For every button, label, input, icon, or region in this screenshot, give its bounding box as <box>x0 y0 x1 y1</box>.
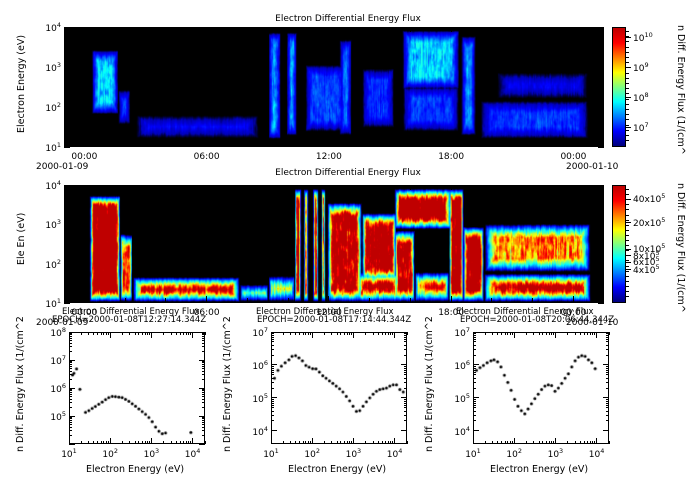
x-tick-minor <box>539 332 540 335</box>
y-tick-major <box>598 303 604 304</box>
x-tick-minor <box>542 441 543 444</box>
x-tick-minor <box>373 441 374 444</box>
y-tick-minor <box>473 337 476 338</box>
x-tick-minor <box>492 441 493 444</box>
y-tick-label: 104 <box>37 21 61 34</box>
panel2-ylabel: Ele En (eV) <box>16 213 27 265</box>
y-tick-minor <box>601 99 604 100</box>
x-tick-minor <box>188 332 189 335</box>
x-tick-minor <box>247 142 248 147</box>
x-tick-minor <box>410 185 411 190</box>
y-tick-minor <box>64 272 67 273</box>
x-tick-minor <box>378 441 379 444</box>
y-tick-minor <box>404 415 407 416</box>
x-tick-minor <box>533 441 534 444</box>
x-tick-minor <box>491 185 492 190</box>
cbar-tick-minor <box>626 99 629 100</box>
y-tick-minor <box>601 75 604 76</box>
cbar-tick-minor <box>626 204 629 205</box>
x-tick-minor <box>567 441 568 444</box>
y-tick-minor <box>601 278 604 279</box>
y-tick-minor <box>202 371 205 372</box>
x-tick-minor <box>378 332 379 335</box>
cbar-tick-minor <box>626 209 629 210</box>
x-tick-minor <box>247 27 248 32</box>
x-tick-label: 06:00 <box>191 152 223 162</box>
y-tick-minor <box>473 366 476 367</box>
x-tick-minor <box>497 332 498 335</box>
y-tick-minor <box>202 418 205 419</box>
y-tick-label: 103 <box>37 218 61 231</box>
spectrum-3-xlabel: Electron Energy (eV) <box>490 464 588 475</box>
x-tick-minor <box>142 332 143 335</box>
y-tick-minor <box>606 339 609 340</box>
y-tick-minor <box>601 45 604 46</box>
cbar-tick-minor <box>626 52 629 53</box>
y-tick-major <box>64 263 70 264</box>
x-tick-minor <box>485 332 486 335</box>
spectrum-3-epoch: EPOCH=2000-01-08T20:06:44.344Z <box>460 315 614 325</box>
y-tick-minor <box>271 370 274 371</box>
y-tick-minor <box>606 378 609 379</box>
x-tick-minor <box>373 332 374 335</box>
y-tick-minor <box>64 281 67 282</box>
y-tick-minor <box>601 121 604 122</box>
panel1-colorbar <box>612 27 626 147</box>
y-tick-minor <box>202 399 205 400</box>
y-tick-minor <box>601 250 604 251</box>
y-tick-minor <box>473 335 476 336</box>
spectrum-2-xlabel: Electron Energy (eV) <box>288 464 386 475</box>
x-tick-minor <box>369 142 370 147</box>
y-tick-minor <box>69 333 72 334</box>
y-tick-minor <box>69 336 72 337</box>
x-tick-minor <box>532 298 533 303</box>
panel1-ylabel: Electron Energy (eV) <box>16 35 27 133</box>
y-tick-minor <box>271 420 274 421</box>
y-tick-minor <box>69 343 72 344</box>
x-tick-minor <box>190 332 191 335</box>
cbar-tick-label: 40x105 <box>633 192 665 205</box>
x-tick-minor <box>382 332 383 335</box>
y-tick-major <box>64 224 70 225</box>
y-tick-minor <box>601 118 604 119</box>
cbar-tick-minor <box>626 220 629 221</box>
x-tick-minor <box>147 441 148 444</box>
y-tick-minor <box>64 43 67 44</box>
y-tick-minor <box>271 337 274 338</box>
x-tick-minor <box>106 332 107 335</box>
x-tick-minor <box>125 298 126 303</box>
y-tick-label: 105 <box>444 392 470 405</box>
y-tick-minor <box>601 114 604 115</box>
y-tick-minor <box>473 403 476 404</box>
y-tick-minor <box>64 125 67 126</box>
y-tick-minor <box>601 270 604 271</box>
y-tick-minor <box>404 382 407 383</box>
y-tick-minor <box>473 415 476 416</box>
y-tick-minor <box>202 427 205 428</box>
y-tick-minor <box>404 372 407 373</box>
x-tick-minor <box>93 441 94 444</box>
y-tick-minor <box>64 48 67 49</box>
x-tick-major <box>514 332 515 338</box>
x-tick-minor <box>365 441 366 444</box>
x-tick-minor <box>247 185 248 190</box>
y-tick-minor <box>404 378 407 379</box>
y-tick-minor <box>202 422 205 423</box>
y-tick-label: 106 <box>40 382 66 395</box>
y-tick-minor <box>404 337 407 338</box>
x-tick-minor <box>410 298 411 303</box>
x-tick-major <box>110 332 111 338</box>
y-tick-label: 107 <box>40 354 66 367</box>
x-tick-minor <box>145 332 146 335</box>
y-tick-minor <box>473 349 476 350</box>
y-tick-minor <box>606 368 609 369</box>
y-tick-minor <box>202 333 205 334</box>
y-tick-minor <box>64 285 67 286</box>
x-tick-minor <box>584 332 585 335</box>
spectrum-1-plot <box>69 332 205 444</box>
x-tick-minor <box>101 441 102 444</box>
x-tick-minor <box>390 441 391 444</box>
x-tick-minor <box>176 332 177 335</box>
y-tick-minor <box>601 93 604 94</box>
y-tick-minor <box>64 85 67 86</box>
y-tick-minor <box>473 411 476 412</box>
x-tick-major <box>312 332 313 338</box>
x-tick-minor <box>145 441 146 444</box>
x-tick-minor <box>407 441 408 444</box>
y-tick-minor <box>601 85 604 86</box>
y-tick-minor <box>601 129 604 130</box>
cbar-tick-minor <box>626 245 629 246</box>
y-tick-minor <box>606 366 609 367</box>
x-tick-minor <box>142 441 143 444</box>
x-tick-label: 102 <box>300 447 324 460</box>
x-tick-minor <box>138 441 139 444</box>
x-tick-minor <box>594 332 595 335</box>
x-tick-minor <box>290 441 291 444</box>
y-tick-minor <box>64 220 67 221</box>
panel2-colorbar-label: n Diff. Energy Flux (1/(cm^ <box>675 183 686 313</box>
y-tick-minor <box>202 338 205 339</box>
y-tick-minor <box>69 427 72 428</box>
y-tick-minor <box>271 378 274 379</box>
y-tick-minor <box>271 415 274 416</box>
cbar-tick-minor <box>626 250 629 251</box>
cbar-tick-minor <box>626 230 629 231</box>
y-tick-minor <box>601 79 604 80</box>
spectrum-3-ylabel: n Diff. Energy Flux (1/(cm^2 <box>424 316 435 452</box>
y-tick-minor <box>601 285 604 286</box>
y-tick-minor <box>601 268 604 269</box>
y-tick-minor <box>202 336 205 337</box>
y-tick-minor <box>202 420 205 421</box>
y-tick-minor <box>404 355 407 356</box>
y-tick-minor <box>601 242 604 243</box>
y-tick-minor <box>69 399 72 400</box>
x-tick-minor <box>592 332 593 335</box>
y-tick-minor <box>404 333 407 334</box>
panel1-xdate-left: 2000-01-09 <box>36 162 88 172</box>
x-tick-minor <box>308 441 309 444</box>
y-tick-minor <box>404 370 407 371</box>
spectrum-3-plot <box>473 332 609 444</box>
y-tick-minor <box>64 209 67 210</box>
x-tick-minor <box>84 185 85 190</box>
cbar-tick-label: 1010 <box>633 31 653 44</box>
y-tick-minor <box>64 234 67 235</box>
y-tick-minor <box>202 379 205 380</box>
x-tick-minor <box>122 332 123 335</box>
y-tick-major <box>598 67 604 68</box>
x-tick-label: 104 <box>181 447 205 460</box>
y-tick-label: 104 <box>242 425 268 438</box>
y-tick-minor <box>64 292 67 293</box>
x-tick-major <box>151 438 152 444</box>
x-tick-minor <box>340 332 341 335</box>
y-tick-minor <box>473 345 476 346</box>
x-tick-minor <box>584 441 585 444</box>
y-tick-minor <box>601 43 604 44</box>
cbar-tick-minor <box>626 104 629 105</box>
y-tick-minor <box>606 333 609 334</box>
x-tick-minor <box>171 441 172 444</box>
y-tick-minor <box>606 372 609 373</box>
y-tick-minor <box>271 349 274 350</box>
x-tick-minor <box>410 27 411 32</box>
y-tick-minor <box>601 125 604 126</box>
y-tick-minor <box>64 233 67 234</box>
y-tick-major <box>598 27 604 28</box>
y-tick-minor <box>271 407 274 408</box>
y-tick-minor <box>271 372 274 373</box>
x-tick-minor <box>135 441 136 444</box>
x-tick-minor <box>351 332 352 335</box>
x-tick-minor <box>451 185 452 190</box>
y-tick-minor <box>601 39 604 40</box>
y-tick-minor <box>202 368 205 369</box>
y-tick-minor <box>64 82 67 83</box>
cbar-tick <box>626 127 631 128</box>
x-tick-minor <box>283 441 284 444</box>
y-tick-minor <box>601 220 604 221</box>
x-tick-minor <box>567 332 568 335</box>
x-tick-minor <box>138 332 139 335</box>
y-tick-label: 104 <box>37 179 61 192</box>
y-tick-major <box>64 67 70 68</box>
y-tick-minor <box>69 435 72 436</box>
y-tick-minor <box>202 407 205 408</box>
x-tick-major <box>573 296 574 303</box>
x-tick-major <box>451 296 452 303</box>
x-tick-minor <box>125 27 126 32</box>
y-tick-minor <box>69 422 72 423</box>
x-tick-minor <box>84 27 85 32</box>
y-tick-minor <box>69 394 72 395</box>
x-tick-minor <box>340 441 341 444</box>
x-tick-major <box>192 438 193 444</box>
y-tick-minor <box>473 333 476 334</box>
x-tick-major <box>192 332 193 338</box>
x-tick-minor <box>587 441 588 444</box>
cbar-tick-minor <box>626 281 629 282</box>
y-tick-minor <box>64 203 67 204</box>
cbar-tick-minor <box>626 41 629 42</box>
x-tick-minor <box>347 332 348 335</box>
x-tick-label: 101 <box>461 447 485 460</box>
x-tick-minor <box>186 332 187 335</box>
x-tick-minor <box>392 332 393 335</box>
x-tick-minor <box>510 332 511 335</box>
y-tick-minor <box>271 368 274 369</box>
x-tick-minor <box>526 441 527 444</box>
y-tick-minor <box>473 370 476 371</box>
x-tick-minor <box>288 142 289 147</box>
y-tick-minor <box>606 399 609 400</box>
x-tick-minor <box>324 332 325 335</box>
y-tick-minor <box>64 268 67 269</box>
x-tick-minor <box>171 332 172 335</box>
y-tick-major <box>598 147 604 148</box>
y-tick-minor <box>202 361 205 362</box>
y-tick-minor <box>404 411 407 412</box>
x-tick-label: 102 <box>98 447 122 460</box>
x-tick-minor <box>539 441 540 444</box>
x-tick-minor <box>163 441 164 444</box>
y-tick-minor <box>202 362 205 363</box>
cbar-tick-minor <box>626 67 629 68</box>
y-tick-minor <box>473 355 476 356</box>
x-tick-minor <box>310 441 311 444</box>
x-tick-minor <box>491 298 492 303</box>
x-tick-minor <box>492 332 493 335</box>
x-tick-minor <box>553 441 554 444</box>
x-tick-label: 103 <box>341 447 365 460</box>
y-tick-minor <box>601 206 604 207</box>
x-tick-major <box>312 438 313 444</box>
x-tick-minor <box>331 441 332 444</box>
x-tick-minor <box>206 185 207 190</box>
y-tick-major <box>69 444 75 445</box>
y-tick-minor <box>271 333 274 334</box>
x-tick-minor <box>188 441 189 444</box>
y-tick-minor <box>601 256 604 257</box>
y-tick-minor <box>64 242 67 243</box>
x-tick-major <box>596 438 597 444</box>
y-tick-minor <box>202 351 205 352</box>
y-tick-minor <box>606 407 609 408</box>
y-tick-minor <box>601 237 604 238</box>
x-tick-minor <box>328 185 329 190</box>
x-tick-minor <box>510 441 511 444</box>
x-tick-minor <box>81 441 82 444</box>
x-tick-minor <box>163 332 164 335</box>
cbar-tick-minor <box>626 255 629 256</box>
x-tick-minor <box>165 298 166 303</box>
y-tick-minor <box>404 420 407 421</box>
x-tick-minor <box>299 441 300 444</box>
x-tick-minor <box>303 441 304 444</box>
y-tick-label: 107 <box>444 326 470 339</box>
x-tick-minor <box>106 441 107 444</box>
y-tick-minor <box>202 389 205 390</box>
y-tick-minor <box>601 201 604 202</box>
x-tick-minor <box>180 332 181 335</box>
y-tick-minor <box>64 199 67 200</box>
y-tick-major <box>598 263 604 264</box>
x-tick-label: 103 <box>543 447 567 460</box>
x-tick-minor <box>349 332 350 335</box>
y-tick-minor <box>601 197 604 198</box>
y-tick-minor <box>202 390 205 391</box>
x-tick-minor <box>549 332 550 335</box>
y-tick-minor <box>473 420 476 421</box>
y-tick-minor <box>64 45 67 46</box>
y-tick-minor <box>64 93 67 94</box>
panel1-colorbar-label: n Diff. Energy Flux (1/(cm^ <box>675 25 686 155</box>
y-tick-minor <box>202 364 205 365</box>
y-tick-minor <box>64 275 67 276</box>
y-tick-minor <box>64 250 67 251</box>
y-tick-minor <box>202 417 205 418</box>
y-tick-minor <box>202 374 205 375</box>
y-tick-minor <box>69 374 72 375</box>
x-tick-minor <box>410 142 411 147</box>
y-tick-minor <box>404 407 407 408</box>
cbar-tick-minor <box>626 130 629 131</box>
y-tick-minor <box>601 292 604 293</box>
x-tick-minor <box>81 332 82 335</box>
spectrum-2-epoch: EPOCH=2000-01-08T17:14:44.344Z <box>257 315 411 325</box>
y-tick-minor <box>69 351 72 352</box>
y-tick-major <box>603 430 609 431</box>
y-tick-minor <box>69 407 72 408</box>
x-tick-minor <box>108 441 109 444</box>
y-tick-major <box>199 444 205 445</box>
y-tick-major <box>598 107 604 108</box>
cbar-tick-minor <box>626 57 629 58</box>
x-tick-minor <box>485 441 486 444</box>
y-tick-minor <box>606 382 609 383</box>
x-tick-minor <box>295 332 296 335</box>
x-tick-label: 101 <box>259 447 283 460</box>
x-tick-minor <box>491 27 492 32</box>
x-tick-minor <box>532 142 533 147</box>
y-tick-label: 105 <box>242 392 268 405</box>
y-tick-minor <box>64 270 67 271</box>
x-tick-minor <box>331 332 332 335</box>
x-tick-minor <box>542 332 543 335</box>
y-tick-minor <box>606 349 609 350</box>
x-tick-major <box>394 438 395 444</box>
x-tick-minor <box>505 332 506 335</box>
x-tick-minor <box>190 441 191 444</box>
y-tick-minor <box>473 368 476 369</box>
x-tick-major <box>271 438 272 444</box>
y-tick-minor <box>473 407 476 408</box>
x-tick-major <box>394 332 395 338</box>
y-tick-minor <box>601 245 604 246</box>
x-tick-minor <box>288 298 289 303</box>
x-tick-minor <box>575 332 576 335</box>
y-tick-minor <box>202 394 205 395</box>
y-tick-minor <box>69 366 72 367</box>
x-tick-label: 18:00 <box>435 152 467 162</box>
panel2-title: Electron Differential Energy Flux <box>178 168 518 178</box>
